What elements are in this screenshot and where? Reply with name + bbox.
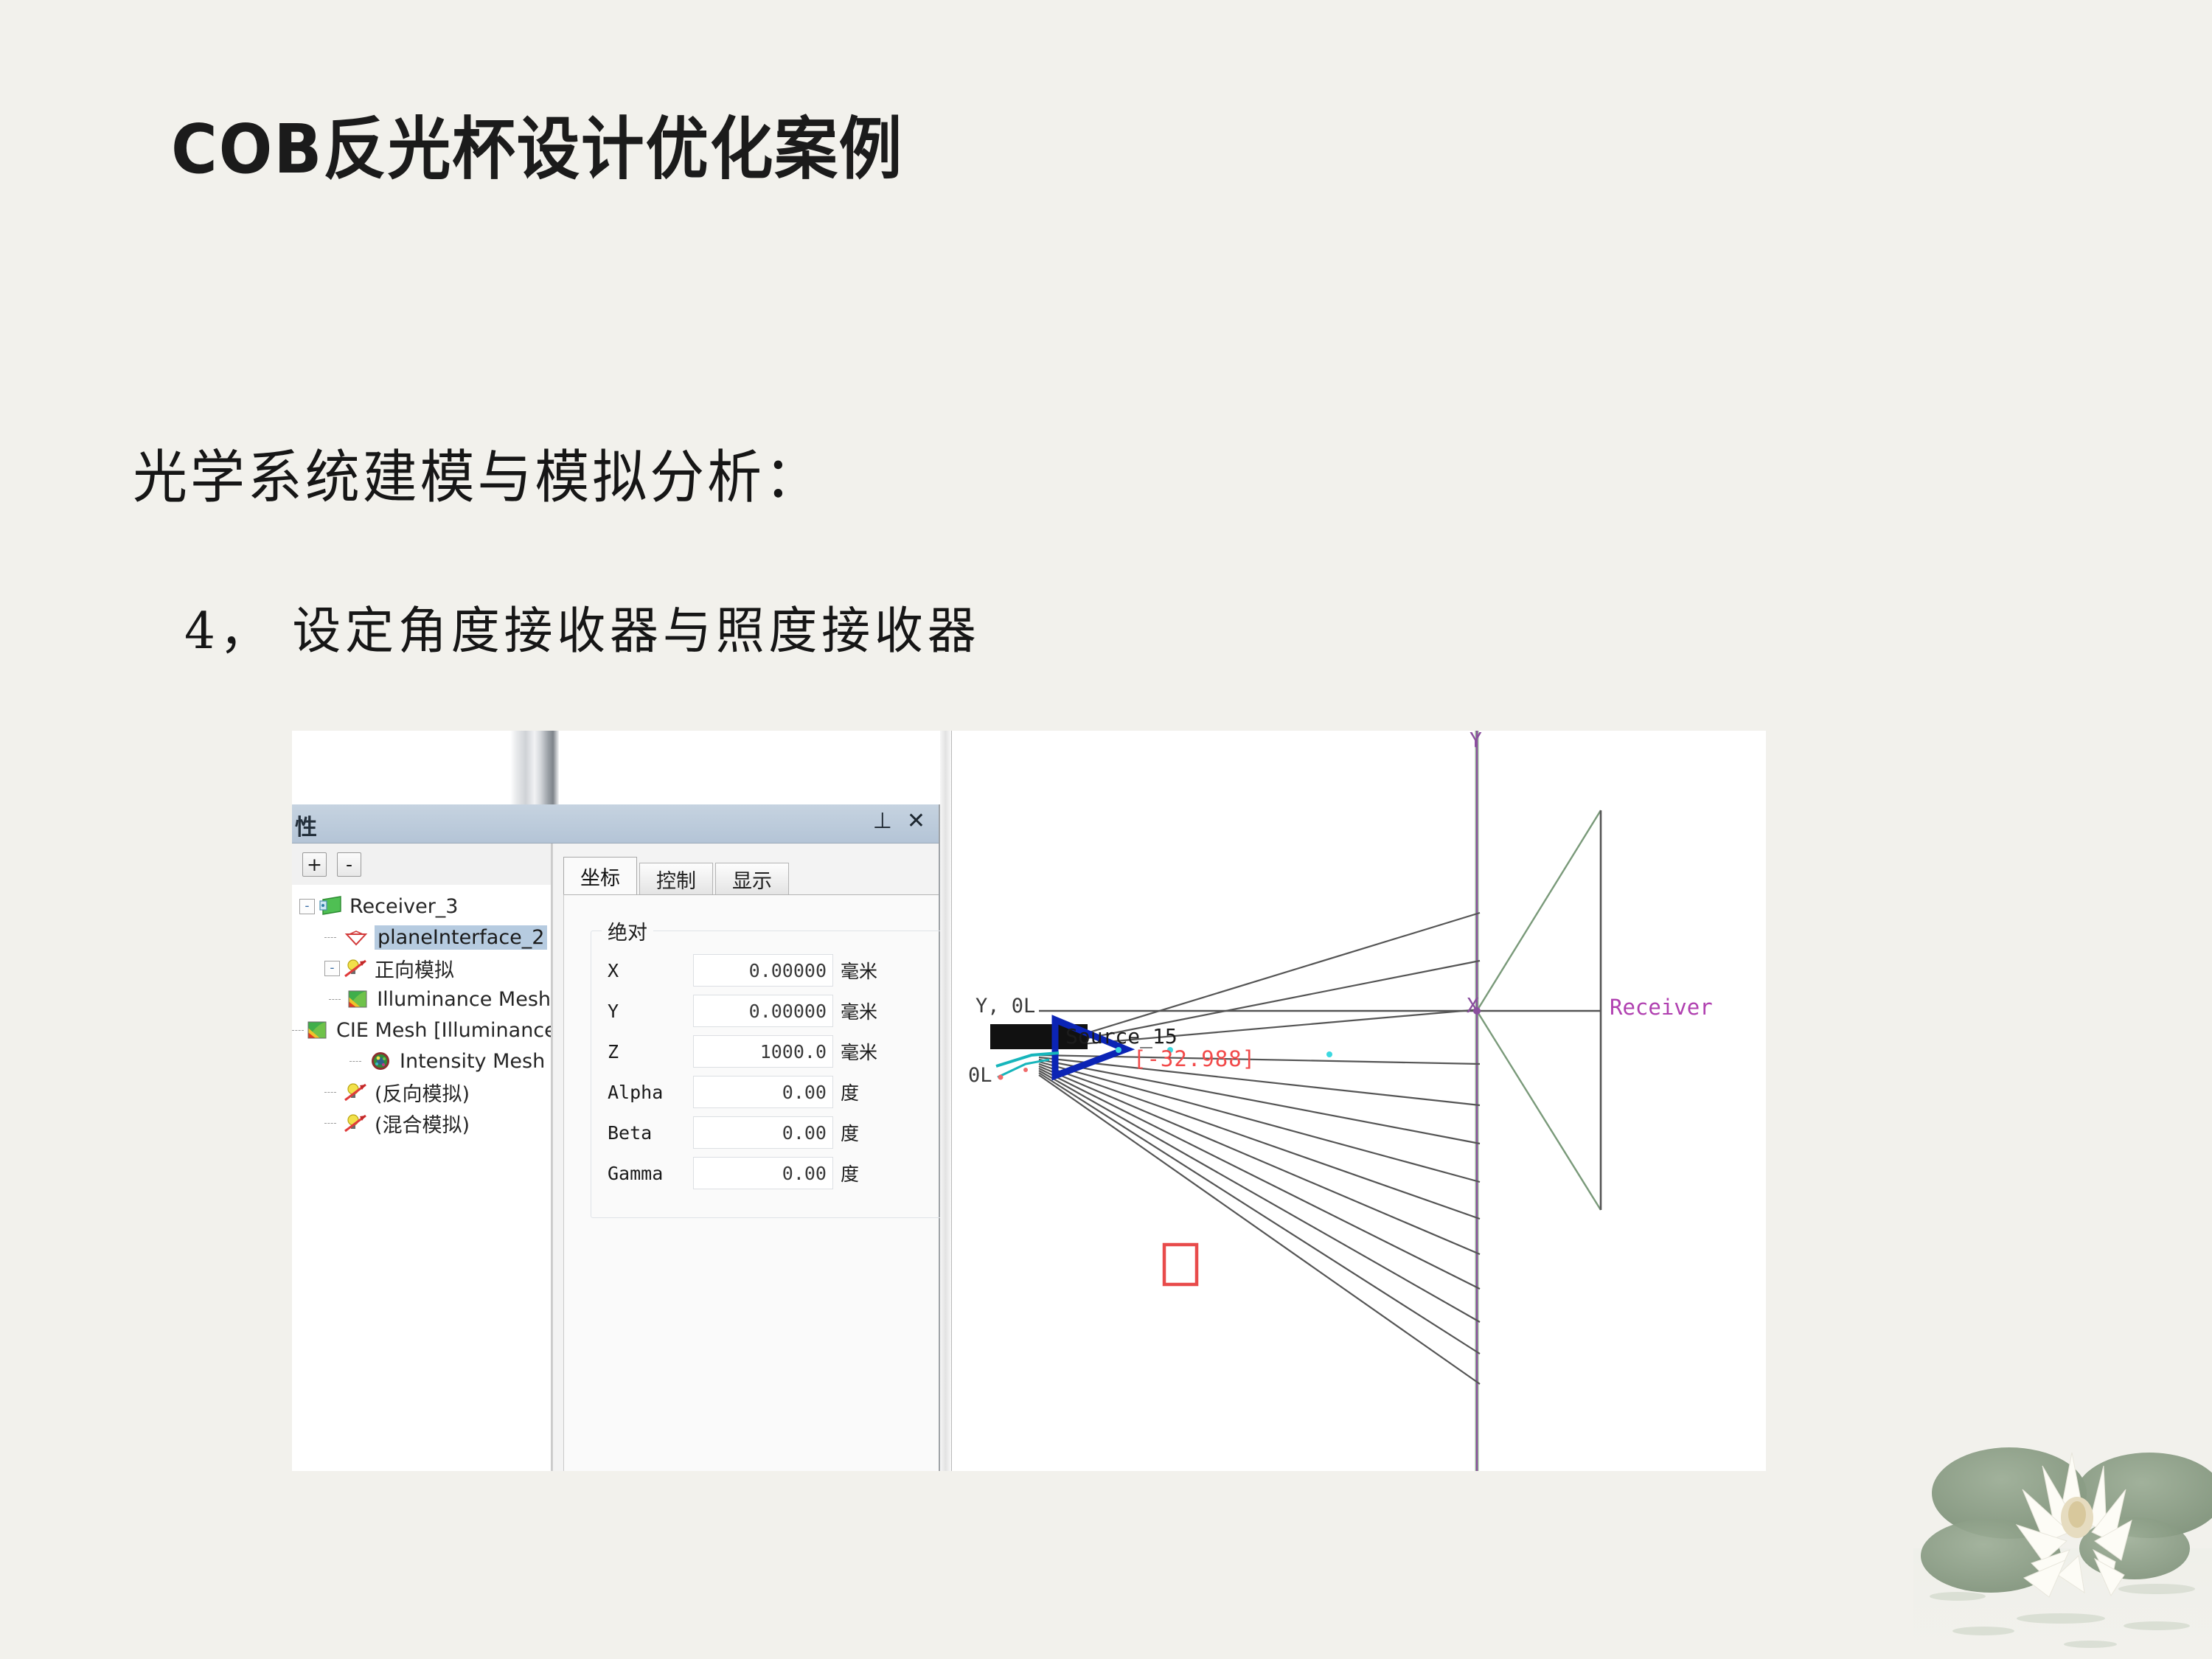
field-unit-alpha: 度	[841, 1079, 859, 1105]
presentation-slide: COB反光杯设计优化案例 光学系统建模与模拟分析： 4， 设定角度接收器与照度接…	[0, 0, 2212, 1659]
tree-connector	[324, 1092, 336, 1093]
tree-connector	[324, 1123, 336, 1124]
tree-item-label: (混合模拟)	[375, 1109, 470, 1138]
tree-item-label: planeInterface_2	[375, 925, 547, 950]
viewport-scrollbar[interactable]	[940, 731, 952, 1471]
object-tree-pane: + - -Receiver_3planeInterface_2-正向模拟Illu…	[292, 844, 552, 1471]
tree-item--[interactable]: (混合模拟)	[292, 1107, 551, 1138]
tree-item--[interactable]: (反向模拟)	[292, 1077, 551, 1107]
tree-connector	[349, 1061, 361, 1062]
viewport-axis-y-label: Y	[1470, 731, 1482, 752]
field-unit-y: 毫米	[841, 998, 877, 1024]
tree-item-label: Receiver_3	[349, 895, 459, 918]
embedded-screenshot: 性 ⊥ ✕ + - -Receiver_3planeInterface_2-正向…	[292, 731, 1766, 1471]
tab-显示[interactable]: 显示	[715, 863, 789, 895]
field-input-x[interactable]: 0.00000	[693, 954, 833, 987]
field-label-beta: Beta	[608, 1122, 693, 1144]
tree-item-cie-mesh-illuminance[interactable]: CIE Mesh [Illuminance	[292, 1015, 551, 1046]
tab-content-coordinates: 绝对 X0.00000毫米Y0.00000毫米Z1000.0毫米Alpha0.0…	[563, 894, 939, 1471]
field-unit-x: 毫米	[841, 957, 877, 984]
viewport-receiver-label: Receiver	[1610, 995, 1713, 1020]
field-input-z[interactable]: 1000.0	[693, 1035, 833, 1068]
field-label-z: Z	[608, 1041, 693, 1062]
tree-item-illuminance-mesh[interactable]: Illuminance Mesh	[292, 984, 551, 1015]
tree-item-planeinterface_2[interactable]: planeInterface_2	[292, 922, 551, 953]
viewport-label-top-left: Y, 0L	[975, 995, 1035, 1018]
tree-item-label: Intensity Mesh	[400, 1050, 545, 1073]
field-label-gamma: Gamma	[608, 1163, 693, 1184]
intensity-sphere-icon	[369, 1050, 394, 1072]
viewport-axis-x-label: X	[1467, 993, 1479, 1018]
viewport-label-source: Source_15	[1065, 1024, 1178, 1048]
dock-body: + - -Receiver_3planeInterface_2-正向模拟Illu…	[292, 844, 939, 1471]
receiver-cone	[1473, 810, 1601, 1210]
field-row-alpha: Alpha0.00度	[608, 1075, 859, 1109]
red-plane-icon	[344, 926, 369, 948]
tree-item-receiver_3[interactable]: -Receiver_3	[292, 891, 551, 922]
tree-item-label: Illuminance Mesh	[377, 988, 551, 1011]
tree-toggle-collapse[interactable]: -	[324, 961, 340, 976]
properties-dock: 性 ⊥ ✕ + - -Receiver_3planeInterface_2-正向…	[292, 804, 940, 1471]
field-unit-beta: 度	[841, 1119, 859, 1146]
pin-icon[interactable]: ⊥	[873, 810, 892, 832]
tab-控制[interactable]: 控制	[639, 863, 713, 895]
expand-all-button[interactable]: +	[302, 852, 327, 877]
ray-bundle	[1039, 913, 1480, 1384]
tree-item--[interactable]: -正向模拟	[292, 953, 551, 984]
tree-item-label: (反向模拟)	[375, 1078, 470, 1107]
tree-item-label: 正向模拟	[375, 954, 454, 983]
tree-scroll-area[interactable]: -Receiver_3planeInterface_2-正向模拟Illumina…	[292, 885, 551, 1471]
tab-strip: 坐标控制显示	[563, 857, 791, 895]
field-row-gamma: Gamma0.00度	[608, 1156, 859, 1190]
step-text: 4， 设定角度接收器与照度接收器	[184, 590, 981, 663]
tab-坐标[interactable]: 坐标	[563, 857, 637, 895]
field-row-x: X0.00000毫米	[608, 953, 877, 987]
field-label-y: Y	[608, 1001, 693, 1022]
field-unit-z: 毫米	[841, 1038, 877, 1065]
field-label-x: X	[608, 960, 693, 981]
tree-toggle-collapse[interactable]: -	[299, 899, 315, 914]
property-tab-pane: 坐标控制显示 绝对 X0.00000毫米Y0.00000毫米Z1000.0毫米A…	[552, 844, 939, 1471]
bulb-forward-icon	[344, 957, 369, 979]
tree-item-label: CIE Mesh [Illuminance	[336, 1019, 551, 1042]
field-input-y[interactable]: 0.00000	[693, 995, 833, 1027]
close-icon[interactable]: ✕	[907, 810, 925, 832]
3d-viewport[interactable]: Y, 0L 0L Source_15 [-32.988] Y X Receive…	[940, 731, 1766, 1471]
optical-layout-svg	[952, 731, 1766, 1471]
field-label-alpha: Alpha	[608, 1082, 693, 1103]
field-input-gamma[interactable]: 0.00	[693, 1157, 833, 1189]
tree-toolbar: + -	[292, 844, 551, 885]
collapse-all-button[interactable]: -	[337, 852, 361, 877]
tree-connector	[329, 999, 341, 1000]
viewport-label-measurement: [-32.988]	[1133, 1046, 1256, 1071]
field-row-beta: Beta0.00度	[608, 1116, 859, 1150]
field-unit-gamma: 度	[841, 1160, 859, 1186]
dock-title-label: 性	[295, 809, 317, 841]
bulb-reverse-icon	[344, 1081, 369, 1103]
field-row-y: Y0.00000毫米	[608, 994, 877, 1028]
section-heading: 光学系统建模与模拟分析：	[133, 431, 822, 514]
tree-connector	[324, 937, 336, 938]
field-input-alpha[interactable]: 0.00	[693, 1076, 833, 1108]
absolute-group: 绝对 X0.00000毫米Y0.00000毫米Z1000.0毫米Alpha0.0…	[591, 931, 945, 1218]
dock-title-bar: 性 ⊥ ✕	[292, 804, 939, 844]
field-row-z: Z1000.0毫米	[608, 1034, 877, 1068]
bulb-mixed-icon	[344, 1112, 369, 1134]
page-title: COB反光杯设计优化案例	[171, 94, 903, 192]
roi-box	[1164, 1245, 1197, 1284]
water-lily-decoration	[1913, 1438, 2212, 1659]
mesh-gradient-icon	[305, 1019, 330, 1041]
viewport-label-bottom-left: 0L	[968, 1064, 992, 1087]
field-input-beta[interactable]: 0.00	[693, 1116, 833, 1149]
tree-item-intensity-mesh[interactable]: Intensity Mesh	[292, 1046, 551, 1077]
green-receiver-icon	[319, 895, 344, 917]
absolute-group-label: 绝对	[602, 917, 653, 945]
tree-connector	[292, 1030, 304, 1031]
mesh-gradient-icon	[346, 988, 371, 1010]
